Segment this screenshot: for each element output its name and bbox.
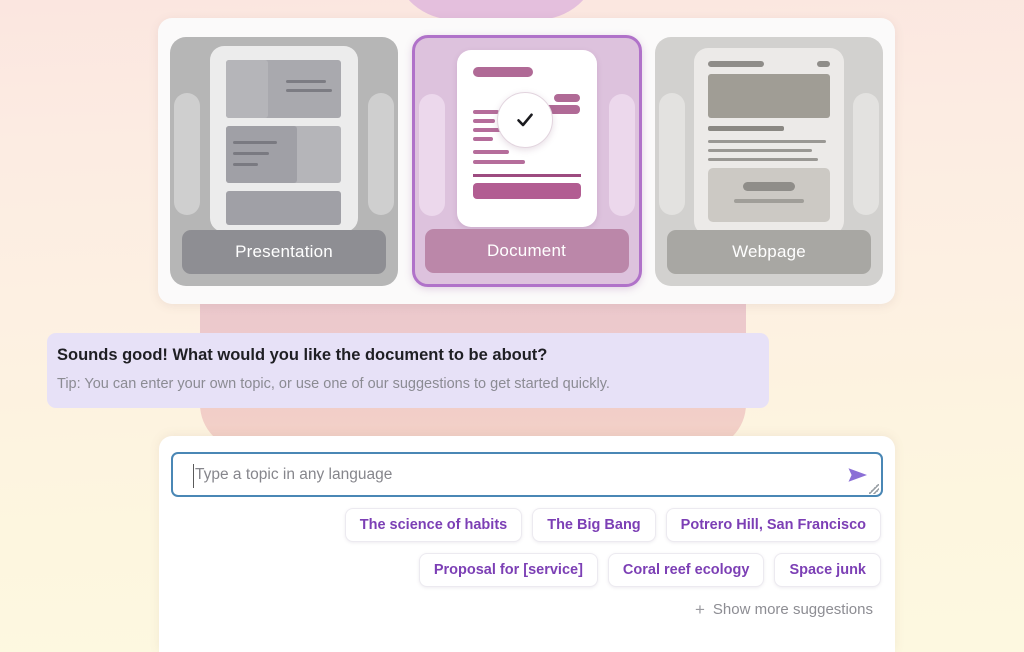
card-rail-right — [609, 94, 635, 216]
type-card-label-webpage: Webpage — [667, 230, 871, 274]
web-text-line — [708, 149, 812, 152]
slide-block-1-accent — [226, 60, 268, 118]
card-rail-right — [853, 93, 879, 215]
check-icon — [497, 92, 553, 148]
web-text-line — [708, 140, 826, 143]
web-cta-caption — [734, 199, 804, 203]
show-more-suggestions-button[interactable]: + Show more suggestions — [689, 600, 879, 619]
suggestion-chip[interactable]: Potrero Hill, San Francisco — [666, 508, 881, 542]
slide-text-line — [233, 152, 269, 155]
doc-divider — [473, 174, 581, 177]
text-caret — [193, 464, 194, 488]
resize-grip-icon[interactable] — [869, 484, 879, 494]
suggestion-chip[interactable]: Space junk — [774, 553, 881, 587]
suggestion-chip[interactable]: Coral reef ecology — [608, 553, 765, 587]
slide-text-line — [286, 80, 326, 83]
document-preview-sheet — [457, 50, 597, 227]
type-card-label-document: Document — [425, 229, 629, 273]
doc-footer-block — [473, 183, 581, 199]
doc-text-line — [473, 150, 509, 154]
card-rail-right — [368, 93, 394, 215]
card-rail-left — [174, 93, 200, 215]
web-nav-button — [817, 61, 830, 67]
topic-input-wrapper[interactable] — [171, 452, 883, 497]
slide-text-line — [233, 141, 277, 144]
web-nav-bar — [708, 61, 764, 67]
suggestion-chip[interactable]: Proposal for [service] — [419, 553, 598, 587]
web-cta-button — [743, 182, 795, 191]
background-blob-top — [396, 0, 596, 20]
webpage-preview-sheet — [694, 48, 844, 235]
web-cta-card — [708, 168, 830, 222]
assistant-message-bubble: Sounds good! What would you like the doc… — [47, 333, 769, 408]
web-hero-image — [708, 74, 830, 118]
doc-title-block — [473, 67, 533, 77]
slide-block-3 — [226, 191, 341, 225]
assistant-message-title: Sounds good! What would you like the doc… — [57, 346, 751, 366]
plus-icon: + — [695, 601, 705, 618]
type-card-presentation[interactable]: Presentation — [170, 37, 398, 286]
composer-panel: The science of habits The Big Bang Potre… — [159, 436, 895, 652]
suggestion-row-2: Proposal for [service] Coral reef ecolog… — [171, 553, 883, 587]
show-more-row: + Show more suggestions — [171, 600, 883, 619]
doc-meta-block — [554, 94, 580, 102]
doc-text-line — [473, 110, 499, 114]
presentation-preview-sheet — [210, 46, 358, 232]
doc-text-line — [473, 119, 495, 123]
type-card-document[interactable]: Document — [412, 35, 642, 287]
web-text-line — [708, 158, 818, 161]
doc-text-line — [473, 160, 525, 164]
web-heading — [708, 126, 784, 131]
output-type-selector-panel: Presentation Document — [158, 18, 895, 304]
type-card-webpage[interactable]: Webpage — [655, 37, 883, 286]
suggestion-chip[interactable]: The Big Bang — [532, 508, 655, 542]
suggestion-chip[interactable]: The science of habits — [345, 508, 522, 542]
topic-input[interactable] — [173, 454, 881, 495]
assistant-message-tip: Tip: You can enter your own topic, or us… — [57, 376, 751, 393]
type-card-label-presentation: Presentation — [182, 230, 386, 274]
card-rail-left — [659, 93, 685, 215]
send-icon[interactable] — [845, 464, 871, 486]
doc-text-line — [473, 137, 493, 141]
card-rail-left — [419, 94, 445, 216]
show-more-label: Show more suggestions — [713, 601, 873, 618]
slide-text-line — [233, 163, 258, 166]
slide-text-line — [286, 89, 332, 92]
suggestion-row-1: The science of habits The Big Bang Potre… — [171, 508, 883, 542]
